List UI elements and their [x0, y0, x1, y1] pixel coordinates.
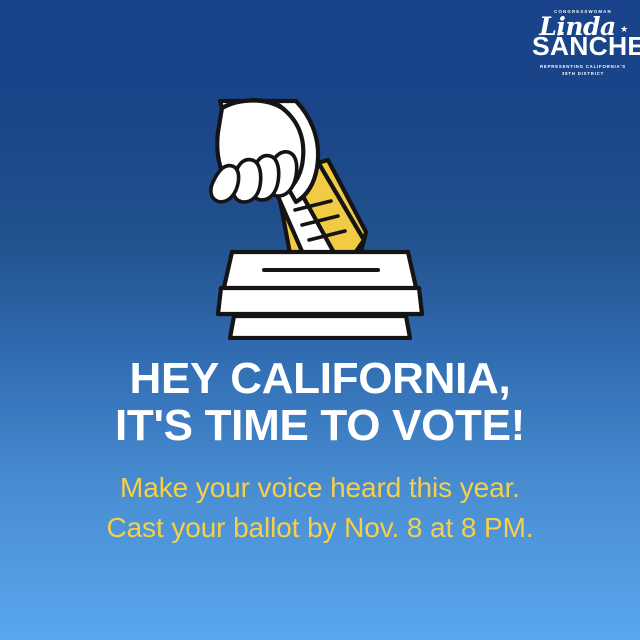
headline-line-2: IT'S TIME TO VOTE! [0, 403, 640, 450]
ballot-box-base [230, 316, 410, 338]
ballot-box-illustration [196, 92, 444, 340]
hand [211, 100, 318, 202]
subtitle-line-2: Cast your ballot by Nov. 8 at 8 PM. [0, 508, 640, 548]
page-title: HEY CALIFORNIA, IT'S TIME TO VOTE! [0, 356, 640, 449]
voting-announcement-poster: CONGRESSWOMAN Linda ★ SÁNCHEZ REPRESENTI… [0, 0, 640, 640]
ballot-box-band [218, 288, 422, 314]
page-subtitle: Make your voice heard this year. Cast yo… [0, 468, 640, 548]
logo-tagline: REPRESENTING CALIFORNIA'S 38TH DISTRICT [534, 64, 632, 77]
campaign-logo: CONGRESSWOMAN Linda ★ SÁNCHEZ REPRESENTI… [534, 10, 632, 77]
ballot-box-graphic [196, 92, 444, 340]
subtitle-line-1: Make your voice heard this year. [0, 468, 640, 508]
logo-tagline-line-1: REPRESENTING CALIFORNIA'S [534, 64, 632, 71]
headline-line-1: HEY CALIFORNIA, [0, 356, 640, 403]
logo-tagline-line-2: 38TH DISTRICT [534, 71, 632, 78]
logo-last-name: SÁNCHEZ [532, 36, 634, 59]
